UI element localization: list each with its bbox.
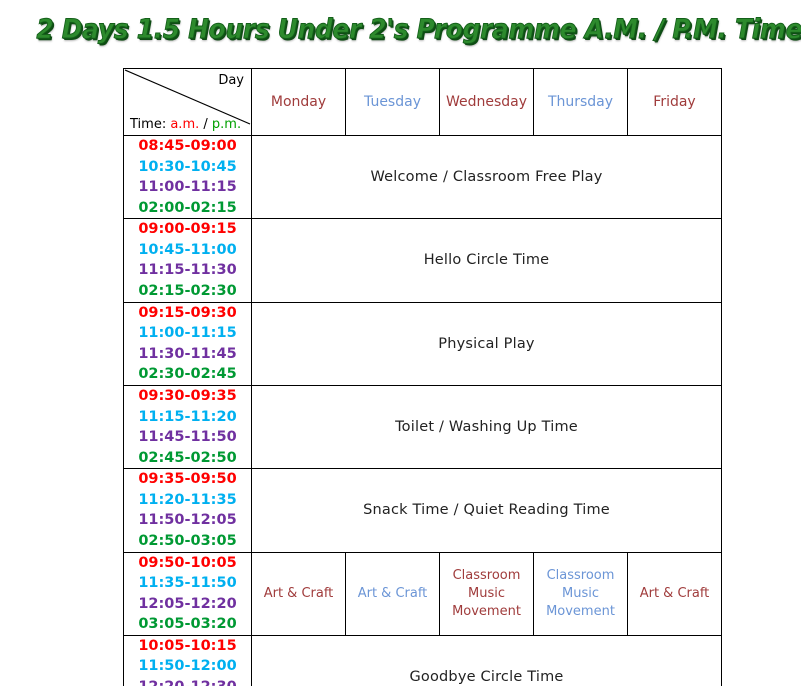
time-slot-pm2: 03:05-03:20 (124, 614, 251, 635)
corner-pm-label: p.m. (212, 117, 241, 132)
activity-cell-friday: Art & Craft (628, 552, 722, 635)
activity-cell-merged: Physical Play (252, 302, 722, 385)
activity-cell-merged: Toilet / Washing Up Time (252, 385, 722, 468)
time-cell: 09:35-09:50 11:20-11:35 11:50-12:05 02:5… (124, 469, 252, 552)
time-slot-am1: 10:05-10:15 (124, 636, 251, 657)
table-row: 08:45-09:00 10:30-10:45 11:00-11:15 02:0… (124, 136, 722, 219)
activity-cell-monday: Art & Craft (252, 552, 346, 635)
time-slot-pm2: 02:45-02:50 (124, 448, 251, 469)
day-header-tuesday: Tuesday (346, 69, 440, 136)
corner-day-label: Day (218, 74, 244, 87)
time-slot-am2: 11:15-11:20 (124, 407, 251, 428)
corner-time-prefix: Time: (130, 117, 166, 132)
time-cell: 09:30-09:35 11:15-11:20 11:45-11:50 02:4… (124, 385, 252, 468)
day-header-friday: Friday (628, 69, 722, 136)
time-slot-pm1: 12:05-12:20 (124, 594, 251, 615)
time-slot-pm1: 11:30-11:45 (124, 344, 251, 365)
time-slot-am1: 09:30-09:35 (124, 386, 251, 407)
page-title: 2 Days 1.5 Hours Under 2's Programme A.M… (36, 14, 801, 45)
day-header-monday: Monday (252, 69, 346, 136)
time-slot-pm2: 02:00-02:15 (124, 198, 251, 219)
time-slot-am1: 09:15-09:30 (124, 303, 251, 324)
time-slot-am2: 11:35-11:50 (124, 573, 251, 594)
header-row: Day Time: a.m. / p.m. Monday Tuesday Wed… (124, 69, 722, 136)
time-cell: 09:15-09:30 11:00-11:15 11:30-11:45 02:3… (124, 302, 252, 385)
timetable-container: Day Time: a.m. / p.m. Monday Tuesday Wed… (123, 68, 722, 686)
table-row: 09:00-09:15 10:45-11:00 11:15-11:30 02:1… (124, 219, 722, 302)
timetable-body: Day Time: a.m. / p.m. Monday Tuesday Wed… (124, 69, 722, 686)
table-row: 09:30-09:35 11:15-11:20 11:45-11:50 02:4… (124, 385, 722, 468)
time-slot-am1: 09:50-10:05 (124, 553, 251, 574)
timetable: Day Time: a.m. / p.m. Monday Tuesday Wed… (123, 68, 722, 686)
day-header-thursday: Thursday (534, 69, 628, 136)
time-cell: 09:50-10:05 11:35-11:50 12:05-12:20 03:0… (124, 552, 252, 635)
time-slot-pm2: 02:50-03:05 (124, 531, 251, 552)
time-slot-pm1: 11:00-11:15 (124, 177, 251, 198)
table-row: 09:50-10:05 11:35-11:50 12:05-12:20 03:0… (124, 552, 722, 635)
table-row: 09:15-09:30 11:00-11:15 11:30-11:45 02:3… (124, 302, 722, 385)
time-slot-pm2: 02:15-02:30 (124, 281, 251, 302)
corner-separator: / (203, 117, 207, 132)
time-slot-am2: 11:50-12:00 (124, 656, 251, 677)
page-title-container: 2 Days 1.5 Hours Under 2's Programme A.M… (0, 14, 801, 45)
timetable-page: 2 Days 1.5 Hours Under 2's Programme A.M… (0, 0, 801, 686)
table-row: 09:35-09:50 11:20-11:35 11:50-12:05 02:5… (124, 469, 722, 552)
time-slot-am1: 09:00-09:15 (124, 219, 251, 240)
activity-cell-tuesday: Art & Craft (346, 552, 440, 635)
time-slot-am2: 11:00-11:15 (124, 323, 251, 344)
time-slot-am2: 10:30-10:45 (124, 157, 251, 178)
corner-header-cell: Day Time: a.m. / p.m. (124, 69, 252, 136)
time-cell: 09:00-09:15 10:45-11:00 11:15-11:30 02:1… (124, 219, 252, 302)
time-cell: 08:45-09:00 10:30-10:45 11:00-11:15 02:0… (124, 136, 252, 219)
corner-time-label: Time: a.m. / p.m. (130, 118, 241, 131)
activity-cell-thursday: Classroom Music Movement (534, 552, 628, 635)
time-slot-am1: 08:45-09:00 (124, 136, 251, 157)
activity-cell-merged: Hello Circle Time (252, 219, 722, 302)
time-slot-pm1: 11:50-12:05 (124, 510, 251, 531)
time-cell: 10:05-10:15 11:50-12:00 12:20-12:30 03:2… (124, 635, 252, 686)
time-slot-pm1: 11:15-11:30 (124, 260, 251, 281)
day-header-wednesday: Wednesday (440, 69, 534, 136)
time-slot-am2: 11:20-11:35 (124, 490, 251, 511)
time-slot-pm2: 02:30-02:45 (124, 364, 251, 385)
activity-cell-merged: Welcome / Classroom Free Play (252, 136, 722, 219)
time-slot-pm1: 12:20-12:30 (124, 677, 251, 686)
activity-cell-merged: Goodbye Circle Time (252, 635, 722, 686)
time-slot-am1: 09:35-09:50 (124, 469, 251, 490)
activity-cell-merged: Snack Time / Quiet Reading Time (252, 469, 722, 552)
corner-am-label: a.m. (170, 117, 199, 132)
time-slot-am2: 10:45-11:00 (124, 240, 251, 261)
table-row: 10:05-10:15 11:50-12:00 12:20-12:30 03:2… (124, 635, 722, 686)
time-slot-pm1: 11:45-11:50 (124, 427, 251, 448)
activity-cell-wednesday: Classroom Music Movement (440, 552, 534, 635)
